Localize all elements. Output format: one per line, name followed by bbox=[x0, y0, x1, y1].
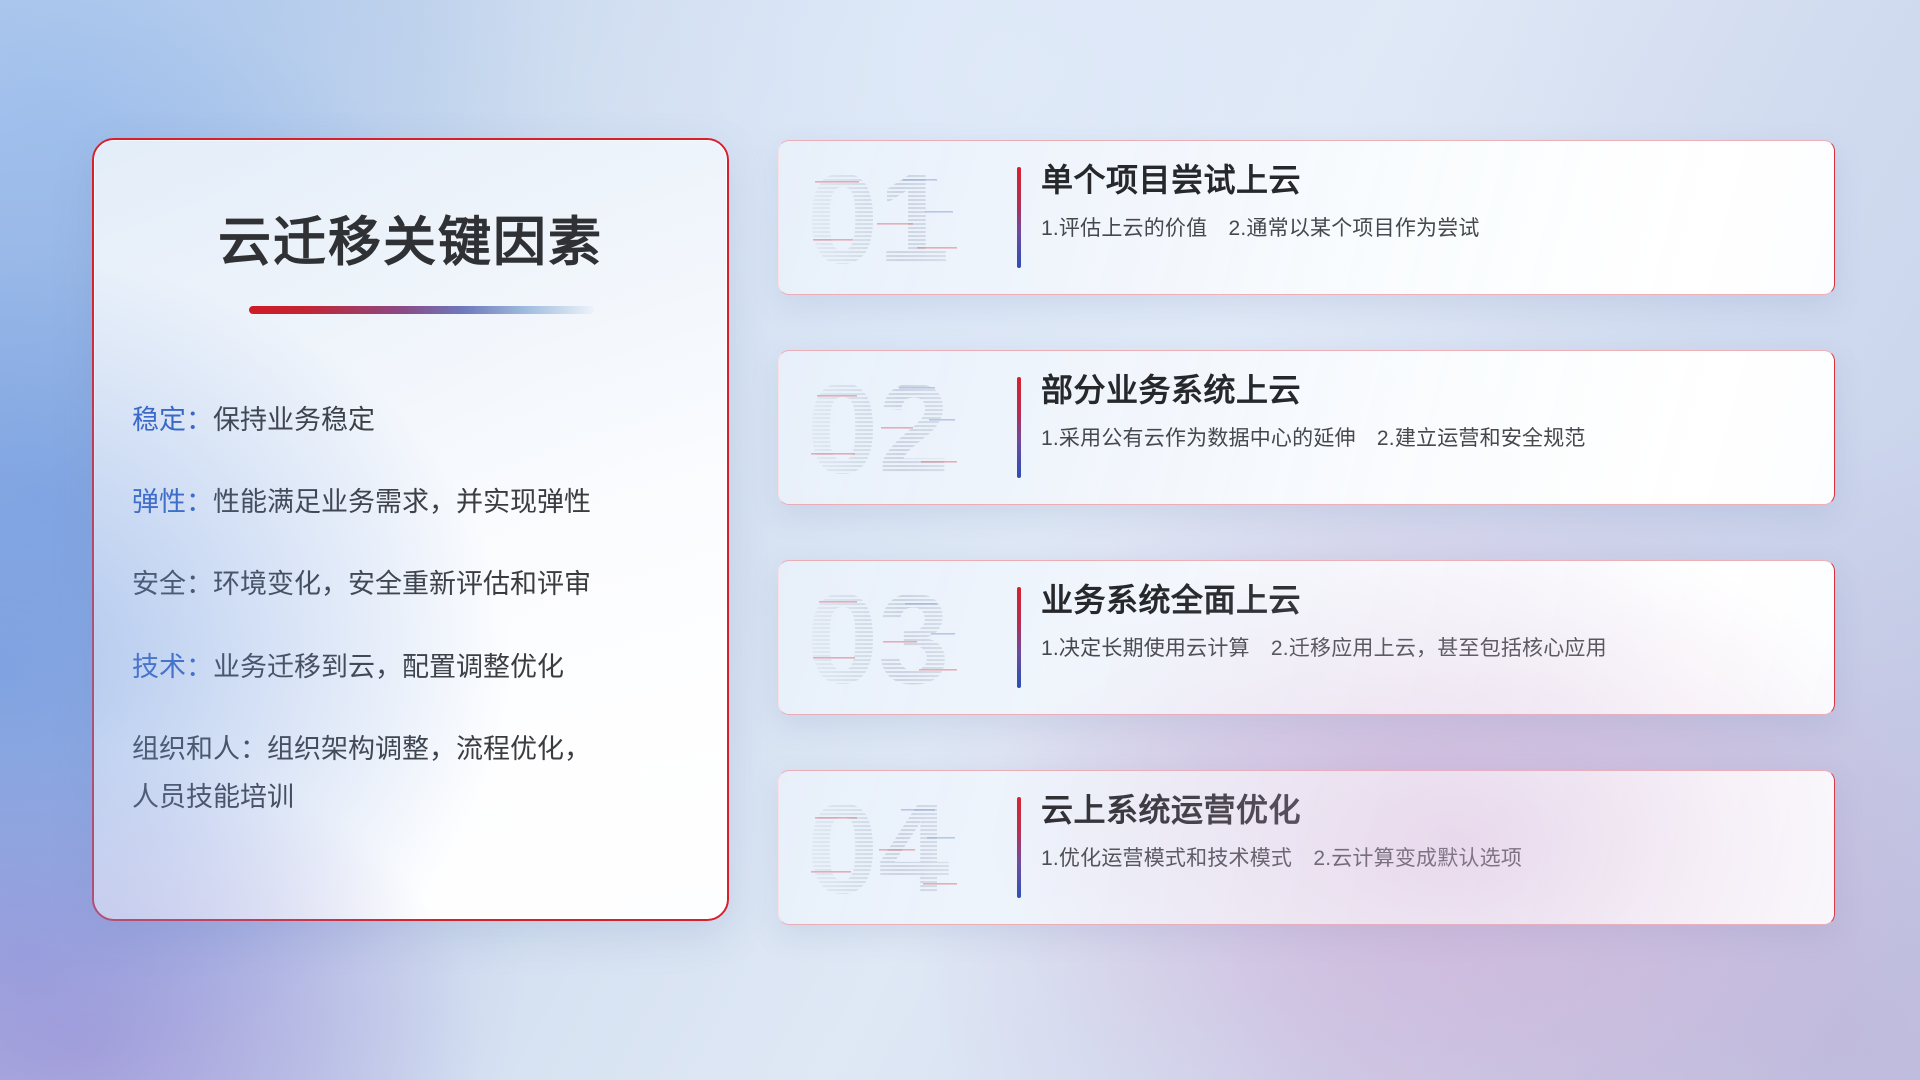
stage-number-text: 02 bbox=[807, 361, 949, 496]
slide-canvas: 云迁移关键因素 稳定：保持业务稳定 弹性：性能满足业务需求，并实现弹性 安全：环… bbox=[0, 0, 1920, 1080]
striped-digit-art: 01 bbox=[807, 151, 997, 286]
striped-digit-art: 03 bbox=[807, 571, 997, 706]
accent-divider-bar bbox=[1017, 587, 1021, 688]
factor-label: 安全： bbox=[132, 569, 213, 599]
factor-item: 技术：业务迁移到云，配置调整优化 bbox=[132, 649, 701, 685]
stage-number-02-icon: 02 bbox=[807, 361, 997, 496]
stage-card-body: 业务系统全面上云 1.决定长期使用云计算 2.迁移应用上云，甚至包括核心应用 bbox=[1041, 581, 1818, 662]
factor-label: 组织和人： bbox=[132, 734, 267, 764]
title-underline-accent bbox=[249, 306, 594, 314]
striped-digit-art: 04 bbox=[807, 781, 997, 916]
stage-card[interactable]: 01 单个项目尝试上云 1.评估上云的价值 2.通常以某个项目作为尝试 bbox=[778, 140, 1835, 295]
stage-number-01-icon: 01 bbox=[807, 151, 997, 286]
factor-item: 组织和人：组织架构调整，流程优化， bbox=[132, 731, 701, 767]
factor-text: 保持业务稳定 bbox=[213, 405, 375, 435]
stage-card-subtitle: 1.决定长期使用云计算 2.迁移应用上云，甚至包括核心应用 bbox=[1041, 632, 1818, 662]
factor-item: 安全：环境变化，安全重新评估和评审 bbox=[132, 566, 701, 602]
stage-card[interactable]: 04 云上系统运营优化 1.优化运营模式和技术模式 2.云计算变成默认选项 bbox=[778, 770, 1835, 925]
factor-item: 稳定：保持业务稳定 bbox=[132, 402, 701, 438]
stage-number-04-icon: 04 bbox=[807, 781, 997, 916]
factor-text: 人员技能培训 bbox=[132, 782, 294, 812]
striped-digit-art: 02 bbox=[807, 361, 997, 496]
factor-text: 环境变化，安全重新评估和评审 bbox=[213, 569, 591, 599]
stage-card-heading: 业务系统全面上云 bbox=[1041, 581, 1818, 619]
factor-text: 组织架构调整，流程优化， bbox=[267, 734, 591, 764]
factor-label: 弹性： bbox=[132, 487, 213, 517]
stage-card-subtitle: 1.优化运营模式和技术模式 2.云计算变成默认选项 bbox=[1041, 842, 1818, 872]
factor-item: 弹性：性能满足业务需求，并实现弹性 bbox=[132, 484, 701, 520]
stage-number-text: 01 bbox=[807, 151, 949, 286]
factor-item-continuation: 人员技能培训 bbox=[132, 779, 701, 815]
stage-card-heading: 云上系统运营优化 bbox=[1041, 791, 1818, 829]
factor-text: 性能满足业务需求，并实现弹性 bbox=[213, 487, 591, 517]
stage-card[interactable]: 03 业务系统全面上云 1.决定长期使用云计算 2.迁移应用上云，甚至包括核心应… bbox=[778, 560, 1835, 715]
page-title: 云迁移关键因素 bbox=[94, 200, 727, 276]
stage-card-body: 部分业务系统上云 1.采用公有云作为数据中心的延伸 2.建立运营和安全规范 bbox=[1041, 371, 1818, 452]
accent-divider-bar bbox=[1017, 167, 1021, 268]
accent-divider-bar bbox=[1017, 377, 1021, 478]
stage-number-text: 03 bbox=[807, 571, 949, 706]
stage-card-heading: 部分业务系统上云 bbox=[1041, 371, 1818, 409]
factor-text: 业务迁移到云，配置调整优化 bbox=[213, 652, 564, 682]
stage-card-subtitle: 1.采用公有云作为数据中心的延伸 2.建立运营和安全规范 bbox=[1041, 422, 1818, 452]
stage-card-heading: 单个项目尝试上云 bbox=[1041, 161, 1818, 199]
accent-divider-bar bbox=[1017, 797, 1021, 898]
stage-card-body: 云上系统运营优化 1.优化运营模式和技术模式 2.云计算变成默认选项 bbox=[1041, 791, 1818, 872]
stage-number-text: 04 bbox=[807, 781, 949, 916]
stage-card[interactable]: 02 部分业务系统上云 1.采用公有云作为数据中心的延伸 2.建立运营和安全规范 bbox=[778, 350, 1835, 505]
factor-label: 技术： bbox=[132, 652, 213, 682]
key-factors-panel: 云迁移关键因素 稳定：保持业务稳定 弹性：性能满足业务需求，并实现弹性 安全：环… bbox=[92, 138, 729, 921]
stage-card-body: 单个项目尝试上云 1.评估上云的价值 2.通常以某个项目作为尝试 bbox=[1041, 161, 1818, 242]
stage-number-03-icon: 03 bbox=[807, 571, 997, 706]
factor-list: 稳定：保持业务稳定 弹性：性能满足业务需求，并实现弹性 安全：环境变化，安全重新… bbox=[132, 402, 701, 815]
factor-label: 稳定： bbox=[132, 405, 213, 435]
stage-card-subtitle: 1.评估上云的价值 2.通常以某个项目作为尝试 bbox=[1041, 212, 1818, 242]
